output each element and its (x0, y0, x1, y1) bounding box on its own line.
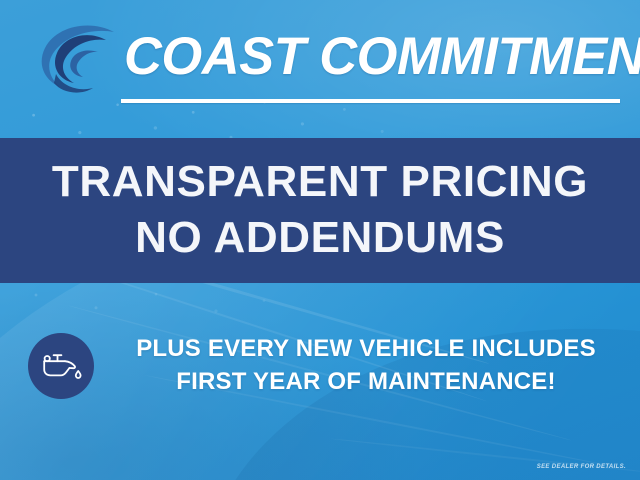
header-divider (121, 99, 620, 103)
headline-band: TRANSPARENT PRICING NO ADDENDUMS (0, 138, 640, 283)
promo-line-every-new-vehicle: PLUS EVERY NEW VEHICLE INCLUDES (111, 333, 621, 366)
oil-can-icon (28, 333, 94, 399)
promo-line-first-year-maintenance: FIRST YEAR OF MAINTENANCE! (111, 366, 621, 399)
sea-foam-texture-lower (0, 283, 300, 323)
coast-wave-swoosh-icon (36, 22, 122, 100)
disclaimer-text: SEE DEALER FOR DETAILS. (537, 464, 626, 470)
promo-text-block: PLUS EVERY NEW VEHICLE INCLUDES FIRST YE… (111, 333, 621, 398)
headline-line-transparent-pricing: TRANSPARENT PRICING (52, 154, 588, 209)
page-title: COAST COMMITMENT (124, 20, 619, 92)
banner-header: COAST COMMITMENT (0, 0, 640, 138)
coast-commitment-banner: COAST COMMITMENT TRANSPARENT PRICING NO … (0, 0, 640, 480)
promo-row: PLUS EVERY NEW VEHICLE INCLUDES FIRST YE… (0, 320, 640, 412)
headline-line-no-addendums: NO ADDENDUMS (135, 210, 505, 265)
